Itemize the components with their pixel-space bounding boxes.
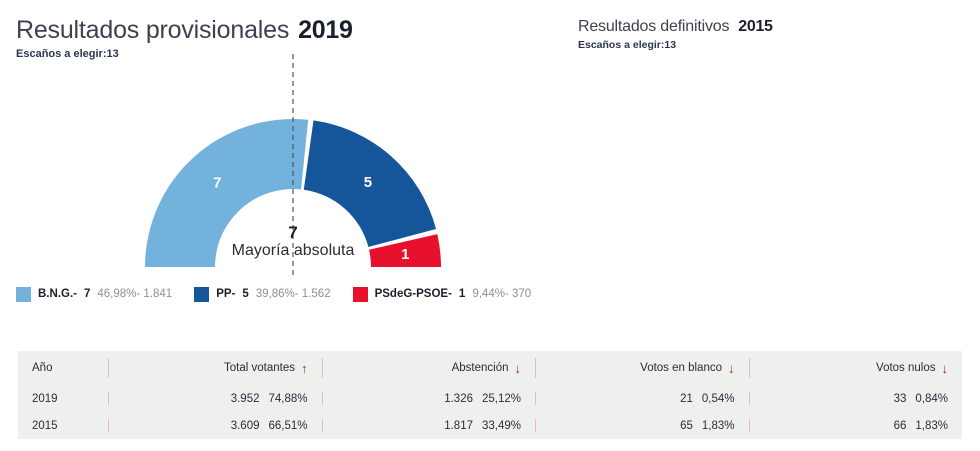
page-title: Resultados provisionales 2019 (16, 16, 560, 45)
legend-party-stats: 39,86%- 1.562 (256, 288, 331, 300)
majority-annotation-2019: 7 Mayoría absoluta (78, 224, 508, 260)
table-header-abstenci-n[interactable]: Abstención↓ (322, 351, 536, 385)
table-cell-count: 21 (680, 393, 693, 405)
legend-color-swatch (353, 287, 368, 302)
seat-gauge-2019: 751 7 Mayoría absoluta (78, 52, 508, 277)
table-cell-percent: 1,83% (702, 420, 735, 432)
majority-value: 7 (78, 224, 508, 242)
table-header-label: Abstención (452, 362, 509, 374)
table-cell: 210,54% (535, 385, 749, 412)
majority-label: Mayoría absoluta (78, 242, 508, 260)
table-cell-count: 66 (894, 420, 907, 432)
legend-party-seats: 1 (459, 288, 465, 300)
legend-party-stats: 9,44%- 370 (472, 288, 531, 300)
table-cell-count: 1.326 (444, 393, 473, 405)
panel-2019: Resultados provisionales 2019 Escaños a … (0, 0, 560, 340)
turnout-table: AñoTotal votantes↑Abstención↓Votos en bl… (18, 351, 962, 439)
title-text: Resultados provisionales (16, 16, 289, 45)
table-cell-count: 3.609 (231, 420, 260, 432)
legend-color-swatch (194, 287, 209, 302)
legend-party-stats: 46,98%- 1.841 (97, 288, 172, 300)
legend-party-name: B.N.G.- (38, 288, 77, 300)
table-header-label: Total votantes (224, 362, 295, 374)
table-cell-count: 33 (894, 393, 907, 405)
table-cell: 3.60966,51% (108, 412, 322, 439)
table-header-content: Abstención↓ (452, 362, 521, 375)
title-year: 2015 (738, 18, 772, 36)
segment-seat-count: 5 (364, 174, 372, 191)
panel-header-2019: Resultados provisionales 2019 Escaños a … (0, 0, 560, 60)
legend-party-name: PSdeG-PSOE- (375, 288, 452, 300)
segment-seat-count: 7 (213, 175, 221, 192)
legend-item[interactable]: B.N.G.-746,98%- 1.841 (16, 285, 172, 303)
legend-item[interactable]: PSdeG-PSOE-19,44%- 370 (353, 285, 532, 303)
table-cell: 1.32625,12% (322, 385, 536, 412)
table-cell: 661,83% (749, 412, 963, 439)
table-cell-percent: 33,49% (482, 420, 521, 432)
table-header-content: Votos nulos↓ (876, 362, 948, 375)
legend-party-seats: 5 (242, 288, 248, 300)
table-cell: 3.95274,88% (108, 385, 322, 412)
table-header-content: Votos en blanco↓ (640, 362, 734, 375)
table-header-a-o[interactable]: Año (18, 351, 108, 385)
table-header-label: Votos en blanco (640, 362, 722, 374)
table-header-content: Total votantes↑ (224, 362, 307, 375)
page-title-secondary: Resultados definitivos 2015 (578, 18, 980, 36)
table-cell-percent: 74,88% (268, 393, 307, 405)
table-cell-percent: 0,54% (702, 393, 735, 405)
table-cell: 651,83% (535, 412, 749, 439)
table-cell: 1.81733,49% (322, 412, 536, 439)
table-cell: 330,84% (749, 385, 963, 412)
legend-2019: B.N.G.-746,98%- 1.841PP-539,86%- 1.562PS… (16, 285, 536, 303)
table-cell-percent: 25,12% (482, 393, 521, 405)
sort-arrow-up-icon[interactable]: ↑ (301, 362, 308, 375)
sort-arrow-down-icon[interactable]: ↓ (515, 362, 522, 375)
legend-color-swatch (16, 287, 31, 302)
sort-arrow-down-icon[interactable]: ↓ (728, 362, 735, 375)
legend-item[interactable]: PP-539,86%- 1.562 (194, 285, 330, 303)
table-cell-percent: 1,83% (915, 420, 948, 432)
table-row-year: 2015 (18, 412, 108, 439)
legend-party-seats: 7 (84, 288, 90, 300)
table-cell-count: 3.952 (231, 393, 260, 405)
title-text: Resultados definitivos (578, 18, 729, 36)
table-row-year: 2019 (18, 385, 108, 412)
seats-subtitle: Escaños a elegir:13 (578, 39, 980, 51)
table-header-label: Votos nulos (876, 362, 935, 374)
table-header-votos-en-blanco[interactable]: Votos en blanco↓ (535, 351, 749, 385)
table-header-content: Año (32, 362, 52, 374)
table-cell-percent: 66,51% (268, 420, 307, 432)
panel-2015: Resultados definitivos 2015 Escaños a el… (560, 0, 980, 340)
election-results-page: Resultados provisionales 2019 Escaños a … (0, 0, 980, 451)
table-header-label: Año (32, 362, 52, 374)
table-header-total-votantes[interactable]: Total votantes↑ (108, 351, 322, 385)
seats-value: 13 (664, 39, 676, 51)
legend-party-name: PP- (216, 288, 235, 300)
table-cell-count: 1.817 (444, 420, 473, 432)
table-header-votos-nulos[interactable]: Votos nulos↓ (749, 351, 963, 385)
seats-label: Escaños a elegir: (578, 39, 664, 51)
title-year: 2019 (298, 16, 352, 45)
panel-header-2015: Resultados definitivos 2015 Escaños a el… (560, 0, 980, 51)
sort-arrow-down-icon[interactable]: ↓ (942, 362, 949, 375)
table-cell-percent: 0,84% (915, 393, 948, 405)
table-cell-count: 65 (680, 420, 693, 432)
